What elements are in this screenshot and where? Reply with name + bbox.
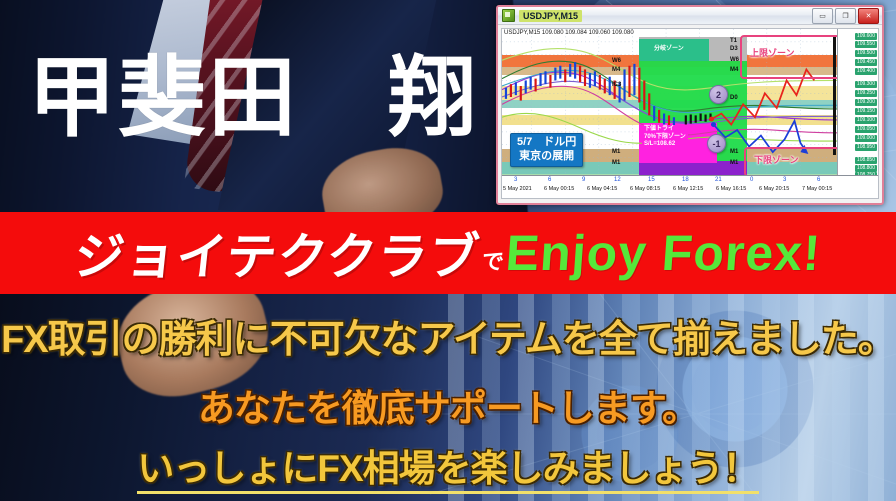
window-controls[interactable]: ▭ ❐ ✕: [812, 8, 879, 24]
chart-plot-area[interactable]: 分岐ゾーン 上限ゾーン 下限ゾーン 下値トライ70%下限ゾーンS/L=108.6…: [502, 29, 838, 176]
chart-callout-box: 5/7 ドル円東京の展開: [510, 133, 583, 167]
band-label-m1-left: M1: [612, 149, 620, 155]
band-label-w6: W6: [730, 57, 739, 63]
x-tick: 0: [750, 177, 753, 183]
fx-promo-banner: 甲斐田 翔 USDJPY,M15 ▭ ❐ ✕ USDJPY,M15 109.08…: [0, 0, 896, 501]
mt4-chart-window[interactable]: USDJPY,M15 ▭ ❐ ✕ USDJPY,M15 109.080 109.…: [496, 5, 884, 205]
chart-window-icon: [502, 9, 515, 22]
chart-quote-line: USDJPY,M15 109.080 109.084 109.060 109.0…: [504, 30, 634, 36]
price-label: 109.450: [855, 59, 877, 66]
price-label: 108.850: [855, 157, 877, 164]
price-label: 109.150: [855, 108, 877, 115]
red-banner: ジョイテククラブ で Enjoy Forex!: [0, 212, 896, 294]
price-scale[interactable]: 109.600 109.550 109.500 109.450 109.400 …: [837, 29, 878, 176]
x-date: 6 May 00:15: [544, 186, 574, 192]
bubble-marker-2: 2: [709, 85, 728, 104]
enjoy-forex-text: Enjoy Forex!: [504, 224, 823, 282]
chart-window-title: USDJPY,M15: [519, 10, 582, 22]
band-label-m1-right-2: M1: [730, 160, 738, 166]
x-tick: 3: [514, 177, 517, 183]
x-date: 6 May 16:15: [716, 186, 746, 192]
x-date: 6 May 08:15: [630, 186, 660, 192]
x-date: 5 May 2021: [503, 186, 532, 192]
upper-zone-label: 上限ゾーン: [750, 46, 795, 59]
band-label-m4: M4: [730, 67, 738, 73]
lower-try-info-box: 下値トライ70%下限ゾーンS/L=108.62: [642, 125, 688, 150]
price-label: 109.600: [855, 33, 877, 40]
x-tick: 6: [817, 177, 820, 183]
price-label: 109.550: [855, 41, 877, 48]
band-label-m1-left-2: M1: [612, 160, 620, 166]
x-tick: 15: [648, 177, 655, 183]
band-label-d3: D3: [730, 46, 738, 52]
lower-zone-label: 下限ゾーン: [754, 153, 799, 166]
message-line-1: FX取引の勝利に不可欠なアイテムを全て揃えました。: [0, 308, 896, 363]
x-date: 6 May 04:15: [587, 186, 617, 192]
maximize-button[interactable]: ❐: [835, 8, 856, 24]
price-label: 108.800: [855, 165, 877, 172]
price-label: 109.200: [855, 99, 877, 106]
message-line-3: いっしょにFX相場を楽しみましょう！: [0, 438, 896, 492]
price-label: 109.100: [855, 117, 877, 124]
x-date: 6 May 12:15: [673, 186, 703, 192]
price-label: 109.000: [855, 135, 877, 142]
bubble-marker-minus-1: -1: [707, 134, 726, 153]
price-label: 109.400: [855, 68, 877, 75]
time-axis[interactable]: 3 6 9 12 15 18 21 0 3 6 5 May 2021 6 May…: [502, 175, 878, 198]
message-line-2: あなたを徹底サポートします。: [0, 378, 896, 432]
x-tick: 21: [715, 177, 722, 183]
band-label-w6-left: W6: [612, 58, 621, 64]
band-label-t1: T1: [730, 38, 737, 44]
x-date: 6 May 20:15: [759, 186, 789, 192]
divergence-zone-label: 分岐ゾーン: [654, 43, 684, 52]
particle-text: で: [480, 244, 505, 276]
message-line-3-text: いっしょにFX相場を楽しみましょう！: [137, 448, 758, 494]
x-tick: 6: [548, 177, 551, 183]
band-label-d0: D0: [730, 95, 738, 101]
x-tick: 12: [614, 177, 621, 183]
band-label-m1-right: M1: [730, 149, 738, 155]
price-label: 109.300: [855, 81, 877, 88]
close-button[interactable]: ✕: [858, 8, 879, 24]
x-date: 7 May 00:15: [802, 186, 832, 192]
band-label-m4-left: M4: [612, 67, 620, 73]
price-label: 109.050: [855, 126, 877, 133]
price-label: 108.950: [855, 144, 877, 151]
chart-window-titlebar[interactable]: USDJPY,M15 ▭ ❐ ✕: [498, 7, 882, 25]
presenter-name: 甲斐田 翔: [28, 54, 478, 142]
chart-canvas[interactable]: USDJPY,M15 109.080 109.084 109.060 109.0…: [501, 28, 879, 199]
club-name-text: ジョイテククラブ: [71, 217, 484, 289]
minimize-button[interactable]: ▭: [812, 8, 833, 24]
band-label-ic3: IC3: [612, 82, 621, 88]
price-label: 109.500: [855, 50, 877, 57]
x-tick: 18: [682, 177, 689, 183]
price-label: 109.250: [855, 90, 877, 97]
x-tick: 9: [582, 177, 585, 183]
x-tick: 3: [783, 177, 786, 183]
